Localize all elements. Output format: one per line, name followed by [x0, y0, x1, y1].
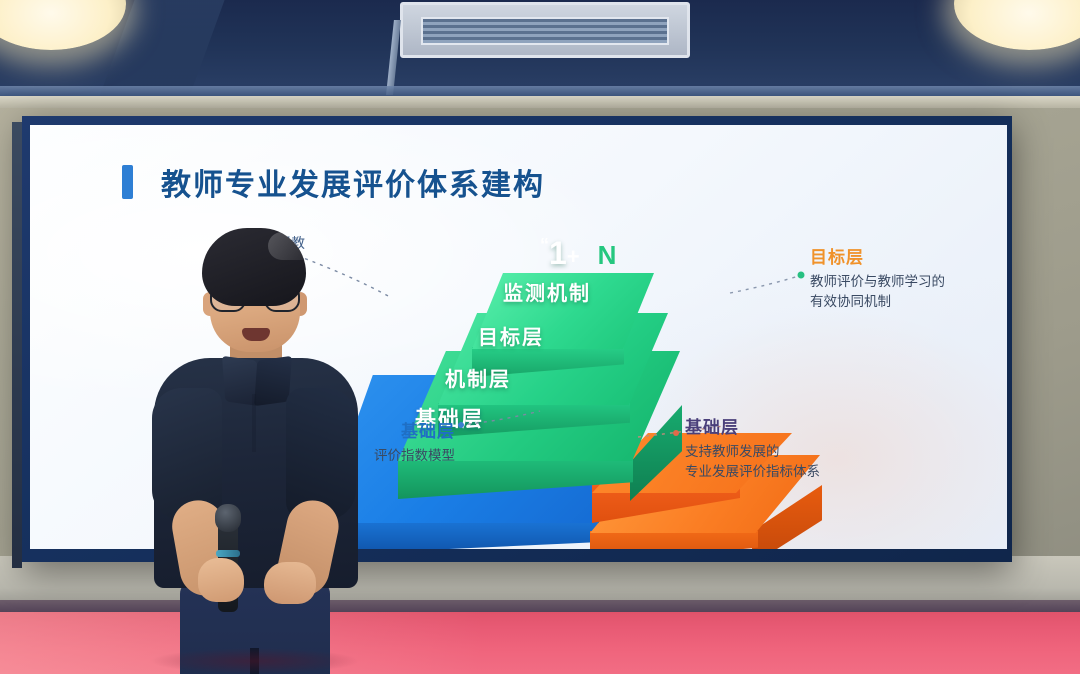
air-vent-louvers: [421, 17, 669, 45]
annotation-top-right: 目标层 教师评价与教师学习的 有效协同机制: [810, 243, 1007, 311]
layer-label-goal: 目标层: [478, 321, 544, 350]
microphone-band-icon: [216, 550, 240, 557]
microphone-head-icon: [215, 504, 241, 532]
layer-label-monitor: 监测机制: [503, 277, 591, 306]
badge-one: 1: [549, 235, 567, 271]
presenter-sleeve-left: [152, 388, 222, 520]
presenter-hand-left: [198, 558, 244, 602]
annotation-top-right-head: 目标层: [810, 243, 1007, 268]
presenter: [146, 228, 356, 674]
annotation-bottom-right: 基础层 支持教师发展的 专业发展评价指标体系: [685, 413, 935, 481]
wall-top-trim: [0, 96, 1080, 108]
ceiling: [0, 0, 1080, 100]
room-scene: 教师专业发展评价体系建构 监测机制 目: [0, 0, 1080, 674]
presenter-hair: [202, 228, 306, 306]
presenter-hand-right: [264, 562, 316, 604]
vent-duct: [386, 20, 401, 95]
presenter-hair-highlight: [268, 232, 324, 260]
one-plus-n-badge: “1+N: [540, 235, 616, 272]
badge-n: N: [598, 240, 617, 270]
layer-label-mechanism: 机制层: [445, 363, 511, 392]
ceiling-rail: [0, 86, 1080, 96]
air-vent: [400, 2, 690, 58]
badge-quote-mark: “: [540, 235, 549, 255]
orange-step-lower-front: [590, 531, 758, 549]
annotation-bottom-right-body: 支持教师发展的 专业发展评价指标体系: [685, 442, 935, 481]
presenter-sleeve-right: [286, 388, 356, 520]
presenter-shirt-placket: [252, 394, 256, 452]
presenter-floor-shadow: [150, 648, 360, 674]
presenter-mouth: [242, 328, 270, 341]
base-layer-front: [320, 521, 598, 549]
annotation-top-right-body: 教师评价与教师学习的 有效协同机制: [810, 272, 1007, 311]
badge-plus: +: [567, 244, 580, 269]
annotation-bottom-right-head: 基础层: [685, 413, 935, 438]
